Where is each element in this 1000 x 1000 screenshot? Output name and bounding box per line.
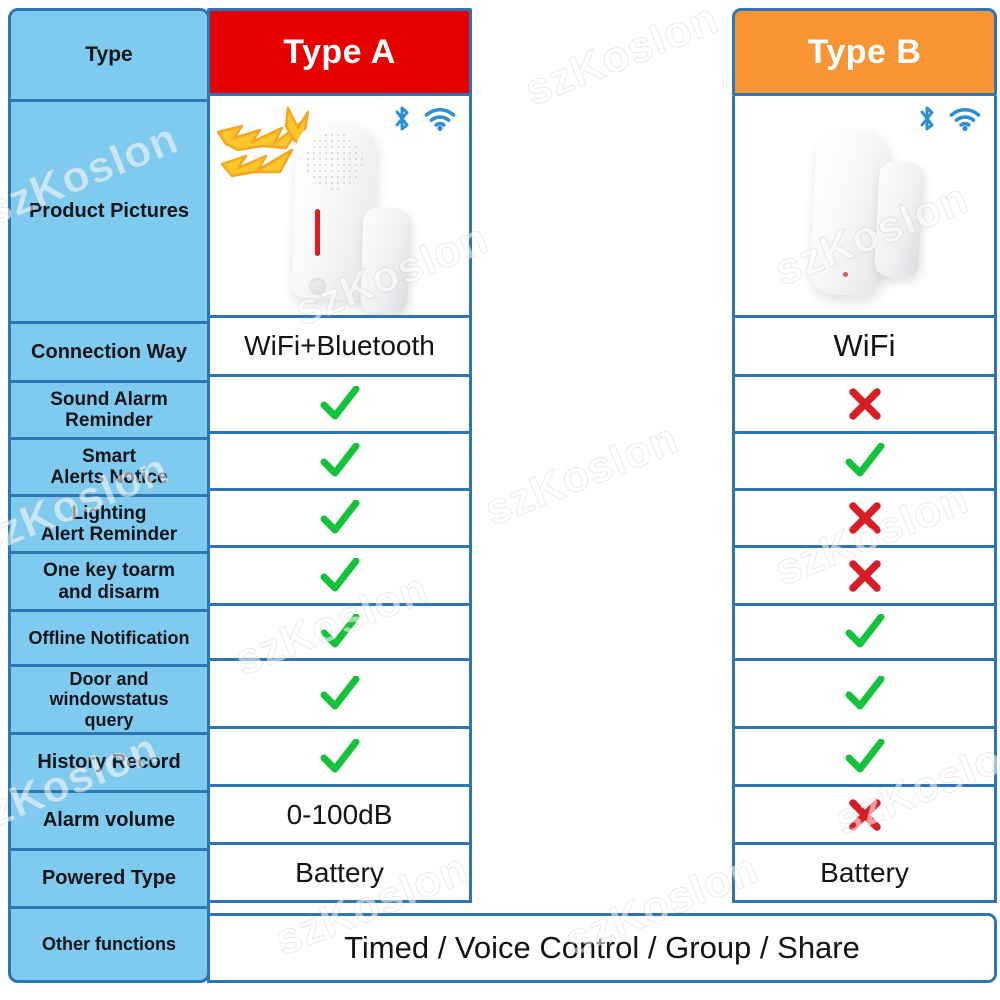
cross-icon bbox=[848, 798, 882, 832]
type-a-product-image bbox=[207, 96, 472, 318]
label-smart-alerts-notice: SmartAlerts Notice bbox=[11, 437, 207, 494]
type-b-header: Type B bbox=[732, 8, 997, 96]
label-text: Other functions bbox=[38, 934, 180, 954]
label-powered-type: Powered Type bbox=[11, 848, 207, 906]
type-b-powered-type: Battery bbox=[732, 845, 997, 903]
type-b-sound-alarm-reminder bbox=[732, 377, 997, 434]
wifi-icon bbox=[423, 104, 457, 139]
check-icon bbox=[320, 443, 360, 479]
label-text: Powered Type bbox=[38, 867, 180, 889]
label-alarm-volume: Alarm volume bbox=[11, 790, 207, 848]
type-b-offline-notification bbox=[732, 606, 997, 661]
label-text: SmartAlerts Notice bbox=[46, 446, 171, 489]
sensor-magnet-body bbox=[360, 207, 411, 314]
column-type-a: Type A bbox=[207, 8, 472, 903]
type-a-connectivity-icons bbox=[389, 104, 457, 139]
label-sound-alarm-reminder: Sound AlarmReminder bbox=[11, 380, 207, 437]
type-a-sound-alarm-reminder bbox=[207, 377, 472, 434]
check-icon bbox=[845, 676, 885, 712]
type-b-one-key-arm-disarm bbox=[732, 548, 997, 606]
type-b-product-image bbox=[732, 96, 997, 318]
cell-value: Battery bbox=[295, 857, 384, 889]
cross-icon bbox=[848, 559, 882, 593]
type-a-alarm-volume: 0-100dB bbox=[207, 787, 472, 845]
label-text: LightingAlert Reminder bbox=[37, 503, 181, 546]
check-icon bbox=[320, 500, 360, 536]
check-icon bbox=[320, 386, 360, 422]
label-history-record: History Record bbox=[11, 732, 207, 790]
cross-icon bbox=[848, 501, 882, 535]
type-a-powered-type: Battery bbox=[207, 845, 472, 903]
check-icon bbox=[845, 739, 885, 775]
type-b-connectivity-icons bbox=[914, 104, 982, 139]
status-led bbox=[843, 272, 848, 277]
label-text: Connection Way bbox=[27, 341, 191, 363]
check-icon bbox=[320, 739, 360, 775]
type-b-header-label: Type B bbox=[808, 33, 922, 72]
label-text: Product Pictures bbox=[25, 200, 193, 222]
type-a-offline-notification bbox=[207, 606, 472, 661]
cell-value: Battery bbox=[820, 857, 909, 889]
type-b-smart-alerts-notice bbox=[732, 434, 997, 491]
type-b-history-record bbox=[732, 729, 997, 787]
check-icon bbox=[320, 676, 360, 712]
check-icon bbox=[320, 558, 360, 594]
label-text: Sound AlarmReminder bbox=[46, 389, 172, 432]
type-a-one-key-arm-disarm bbox=[207, 548, 472, 606]
label-connection-way: Connection Way bbox=[11, 321, 207, 380]
sensor-magnet-body bbox=[874, 161, 924, 278]
check-icon bbox=[845, 614, 885, 650]
led-strip bbox=[315, 209, 320, 256]
bluetooth-icon bbox=[389, 104, 415, 139]
label-door-window-status-query: Door andwindowstatusquery bbox=[11, 664, 207, 732]
type-a-connection-way: WiFi+Bluetooth bbox=[207, 318, 472, 377]
corner-cell: Type bbox=[11, 11, 207, 99]
cell-value: Timed / Voice Control / Group / Share bbox=[344, 930, 860, 966]
type-a-header: Type A bbox=[207, 8, 472, 96]
cross-icon bbox=[848, 387, 882, 421]
type-a-header-label: Type A bbox=[283, 33, 396, 72]
type-a-door-window-status-query bbox=[207, 661, 472, 729]
type-b-lighting-alert-reminder bbox=[732, 491, 997, 548]
sensor-button bbox=[309, 278, 326, 295]
wifi-icon bbox=[948, 104, 982, 139]
other-functions-value: Timed / Voice Control / Group / Share bbox=[207, 913, 997, 983]
type-a-history-record bbox=[207, 729, 472, 787]
label-column: Type Product Pictures Connection Way Sou… bbox=[8, 8, 210, 983]
label-text: Offline Notification bbox=[25, 628, 194, 648]
type-b-connection-way: WiFi bbox=[732, 318, 997, 377]
corner-label: Type bbox=[81, 43, 136, 67]
type-b-alarm-volume bbox=[732, 787, 997, 845]
label-offline-notification: Offline Notification bbox=[11, 609, 207, 664]
label-lighting-alert-reminder: LightingAlert Reminder bbox=[11, 494, 207, 551]
speaker-grill bbox=[305, 132, 363, 190]
label-text: History Record bbox=[33, 751, 184, 773]
check-icon bbox=[320, 614, 360, 650]
check-icon bbox=[845, 443, 885, 479]
label-one-key-arm-disarm: One key toarmand disarm bbox=[11, 551, 207, 609]
cell-value: 0-100dB bbox=[287, 799, 393, 831]
cell-value: WiFi+Bluetooth bbox=[244, 330, 435, 362]
comparison-table: Type Product Pictures Connection Way Sou… bbox=[0, 0, 1000, 1000]
type-a-smart-alerts-notice bbox=[207, 434, 472, 491]
column-type-b: Type B bbox=[732, 8, 997, 903]
label-text: Door andwindowstatusquery bbox=[45, 669, 172, 729]
type-a-lighting-alert-reminder bbox=[207, 491, 472, 548]
label-text: One key toarmand disarm bbox=[39, 560, 179, 603]
type-b-door-window-status-query bbox=[732, 661, 997, 729]
cell-value: WiFi bbox=[834, 328, 896, 364]
label-product-pictures: Product Pictures bbox=[11, 99, 207, 321]
label-text: Alarm volume bbox=[39, 809, 179, 831]
label-other-functions: Other functions bbox=[11, 906, 207, 980]
bluetooth-icon bbox=[914, 104, 940, 139]
